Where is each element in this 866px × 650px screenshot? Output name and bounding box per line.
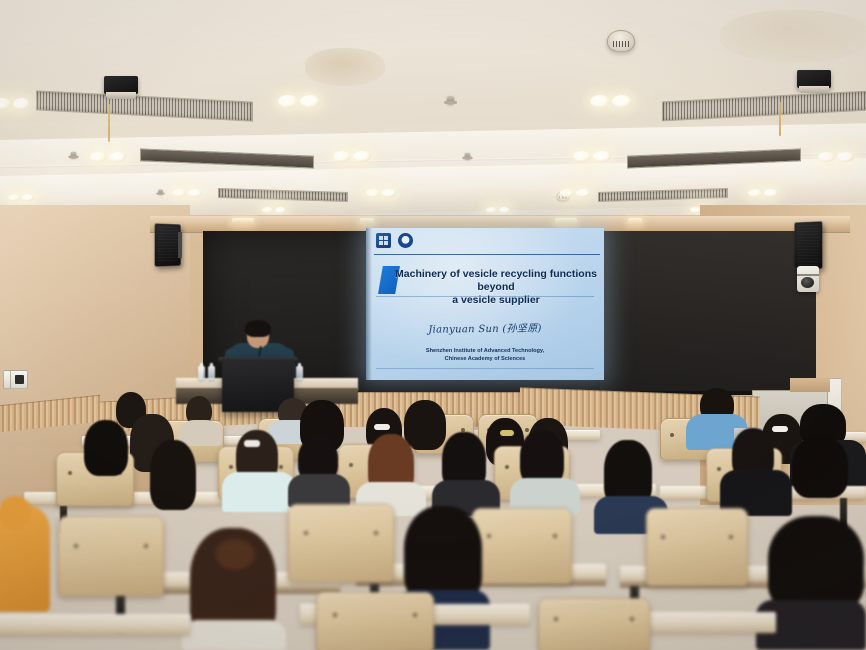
downlight-pair-icon xyxy=(0,98,30,110)
ceiling-projector-box xyxy=(104,76,138,94)
water-bottle xyxy=(198,366,205,380)
sprinkler-head-icon xyxy=(71,152,77,158)
water-bottle xyxy=(208,366,215,380)
sprinkler-head-icon xyxy=(158,189,163,194)
downlight-pair-icon xyxy=(818,152,854,162)
slide-title: Machinery of vesicle recycling functions… xyxy=(394,268,598,307)
smoke-detector-icon xyxy=(607,30,635,52)
hair-clip xyxy=(244,440,260,447)
slide-divider-rule-2 xyxy=(376,296,594,297)
slide-logo-row xyxy=(376,233,413,248)
hair-bun xyxy=(214,536,256,570)
slide-title-line-1: Machinery of vesicle recycling functions… xyxy=(394,268,598,294)
trim-accent-light xyxy=(360,218,374,225)
downlight-pair-icon xyxy=(486,207,510,213)
hanging-cord xyxy=(779,102,781,136)
audience-hair xyxy=(150,440,196,510)
trim-accent-light xyxy=(555,218,577,225)
downlight-pair-icon xyxy=(90,152,126,162)
slide-author-name: Jianyuan Sun (孙坚原) xyxy=(366,319,604,336)
audience-hair xyxy=(404,506,482,602)
audience-torso xyxy=(222,472,296,512)
sprinkler-head-icon xyxy=(465,153,471,159)
wall-speaker-left xyxy=(155,223,181,266)
trim-accent-light xyxy=(628,218,642,225)
downlight-pair-icon xyxy=(560,189,590,197)
affiliation-line-2: Chinese Academy of Sciences xyxy=(366,355,604,363)
downlight-pair-icon xyxy=(172,189,202,197)
sprinkler-head-icon xyxy=(447,96,454,104)
ceiling-seam-patch xyxy=(720,10,866,62)
panel-top-rail xyxy=(790,378,830,392)
downlight-pair-icon xyxy=(366,189,396,197)
institute-square-logo-icon xyxy=(376,233,391,248)
ptz-camera-icon xyxy=(797,266,819,292)
wall-panel-switch[interactable] xyxy=(3,370,11,389)
academy-circular-logo-icon xyxy=(398,233,413,248)
downlight-pair-icon xyxy=(748,189,778,197)
hanging-cord xyxy=(108,104,110,142)
slide-divider-rule-3 xyxy=(376,368,594,369)
ceiling-projector-box xyxy=(797,70,831,88)
downlight-pair-icon xyxy=(573,151,611,162)
audience-hair xyxy=(84,420,128,476)
audience-hair xyxy=(768,516,864,612)
hair-clip xyxy=(500,430,514,436)
audience-chair xyxy=(288,504,394,582)
slide-affiliation: Shenzhen Institute of Advanced Technolog… xyxy=(366,347,604,363)
wall-speaker-right xyxy=(794,221,822,268)
presenter-hair xyxy=(245,320,271,337)
front-dark-wall-right xyxy=(600,231,816,391)
audience-chair xyxy=(58,516,164,596)
projection-screen: Machinery of vesicle recycling functions… xyxy=(366,228,604,380)
affiliation-line-1: Shenzhen Institute of Advanced Technolog… xyxy=(366,347,604,355)
audience-chair xyxy=(646,508,748,586)
lecture-hall-photograph: Machinery of vesicle recycling functions… xyxy=(0,0,866,650)
trim-accent-light xyxy=(232,218,254,225)
downlight-pair-icon xyxy=(590,95,632,108)
foreground-chair xyxy=(316,592,434,650)
foreground-chair xyxy=(538,598,650,650)
audience-hair xyxy=(404,400,446,450)
slide-divider-rule xyxy=(374,254,600,255)
speaker-bracket xyxy=(178,232,182,258)
foreground-desk xyxy=(0,614,190,635)
ceiling-stain-patch xyxy=(305,48,385,86)
audience-torso xyxy=(288,474,350,508)
downlight-pair-icon xyxy=(333,151,371,162)
water-bottle xyxy=(296,366,303,380)
hair-clip xyxy=(772,426,788,432)
downlight-pair-icon xyxy=(8,194,34,201)
audience-hair xyxy=(792,436,848,498)
audience-chair xyxy=(472,508,572,584)
audience-torso xyxy=(182,620,286,650)
downlight-pair-icon xyxy=(262,207,286,213)
hair-clip xyxy=(374,424,390,430)
wall-control-panel[interactable] xyxy=(9,370,28,389)
downlight-pair-icon xyxy=(278,95,320,108)
